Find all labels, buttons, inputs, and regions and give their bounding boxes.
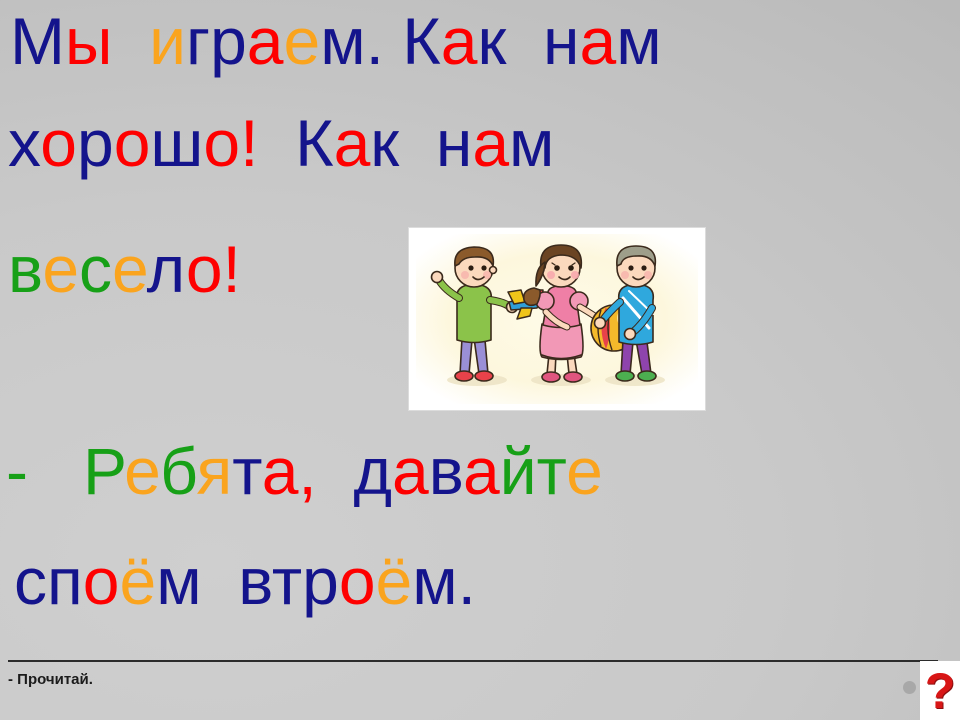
line-1-seg-11: а bbox=[441, 4, 478, 78]
line-2-seg-8: К bbox=[295, 106, 333, 180]
line-1-seg-4: г bbox=[186, 4, 210, 78]
line-2-seg-0: х bbox=[8, 106, 40, 180]
line-5-seg-2: о bbox=[83, 544, 120, 618]
line-2-seg-3: о bbox=[114, 106, 151, 180]
line-4-seg-3: е bbox=[124, 434, 160, 508]
line-4-seg-15: т bbox=[537, 434, 567, 508]
line-5-seg-6: в bbox=[238, 544, 272, 618]
line-1-seg-8: м. bbox=[320, 4, 384, 78]
slide-canvas: Мы играем. Как нам хорошо! Как нам весел… bbox=[0, 0, 960, 720]
line-2-seg-2: р bbox=[77, 106, 114, 180]
question-mark-icon: ? bbox=[925, 666, 956, 716]
line-1-seg-7: е bbox=[284, 4, 321, 78]
line-5-seg-5 bbox=[202, 544, 239, 618]
poem-line-4: - Ребята, давайте bbox=[6, 438, 603, 504]
line-5-seg-0: с bbox=[14, 544, 47, 618]
children-playing-illustration bbox=[409, 228, 705, 410]
line-3-seg-0: в bbox=[8, 232, 42, 306]
line-1-seg-15: а bbox=[579, 4, 616, 78]
line-4-seg-4: б bbox=[160, 434, 196, 508]
line-2-seg-12: н bbox=[436, 106, 472, 180]
footer-divider bbox=[8, 660, 938, 662]
line-5-seg-11: м. bbox=[412, 544, 476, 618]
slide-progress-dot[interactable] bbox=[903, 681, 916, 694]
line-4-seg-8: , bbox=[298, 434, 316, 508]
footer-instruction: - Прочитай. bbox=[8, 671, 93, 688]
line-3-seg-5: о bbox=[186, 232, 223, 306]
line-4-seg-10: д bbox=[353, 434, 392, 508]
poem-line-5: споём втроём. bbox=[14, 548, 476, 614]
line-2-seg-4: ш bbox=[150, 106, 203, 180]
line-2-seg-10: к bbox=[370, 106, 399, 180]
line-5-seg-10: ё bbox=[376, 544, 413, 618]
line-4-seg-5: я bbox=[196, 434, 232, 508]
line-5-seg-1: п bbox=[47, 544, 83, 618]
line-5-seg-3: ё bbox=[119, 544, 156, 618]
line-4-seg-9 bbox=[317, 434, 354, 508]
line-4-seg-6: т bbox=[232, 434, 262, 508]
line-2-seg-11 bbox=[399, 106, 436, 180]
line-2-seg-1: о bbox=[40, 106, 77, 180]
line-1-seg-12: к bbox=[477, 4, 506, 78]
line-3-seg-6: ! bbox=[223, 232, 241, 306]
line-2-seg-13: а bbox=[472, 106, 509, 180]
line-1-seg-0: М bbox=[10, 4, 65, 78]
line-3-seg-2: с bbox=[79, 232, 112, 306]
line-2-seg-6: ! bbox=[240, 106, 258, 180]
line-1-seg-13 bbox=[506, 4, 543, 78]
line-1-seg-5: р bbox=[210, 4, 247, 78]
help-question-button[interactable]: ? bbox=[920, 661, 960, 720]
poem-line-1: Мы играем. Как нам bbox=[10, 8, 662, 74]
line-5-seg-7: т bbox=[272, 544, 302, 618]
line-2-seg-14: м bbox=[509, 106, 554, 180]
line-5-seg-9: о bbox=[339, 544, 376, 618]
line-2-seg-9: а bbox=[334, 106, 371, 180]
line-2-seg-7 bbox=[258, 106, 295, 180]
line-4-seg-13: а bbox=[463, 434, 500, 508]
line-4-seg-7: а bbox=[262, 434, 299, 508]
line-4-seg-11: а bbox=[392, 434, 429, 508]
line-1-seg-3: и bbox=[149, 4, 186, 78]
line-4-seg-14: й bbox=[500, 434, 537, 508]
line-1-seg-9 bbox=[384, 4, 402, 78]
line-4-seg-2: Р bbox=[83, 434, 124, 508]
line-1-seg-6: а bbox=[247, 4, 284, 78]
line-1-seg-1: ы bbox=[65, 4, 112, 78]
line-2-seg-5: о bbox=[203, 106, 240, 180]
line-1-seg-16: м bbox=[616, 4, 661, 78]
line-5-seg-8: р bbox=[302, 544, 339, 618]
line-1-seg-14: н bbox=[543, 4, 579, 78]
poem-line-2: хорошо! Как нам bbox=[8, 110, 554, 176]
line-1-seg-2 bbox=[112, 4, 149, 78]
line-3-seg-3: е bbox=[112, 232, 147, 306]
line-4-seg-12: в bbox=[429, 434, 463, 508]
poem-line-3: весело! bbox=[8, 236, 241, 302]
line-1-seg-10: К bbox=[402, 4, 440, 78]
line-4-seg-16: е bbox=[566, 434, 603, 508]
line-4-seg-1 bbox=[28, 434, 83, 508]
line-5-seg-4: м bbox=[156, 544, 201, 618]
line-3-seg-4: л bbox=[147, 232, 186, 306]
line-3-seg-1: е bbox=[42, 232, 79, 306]
line-4-seg-0: - bbox=[6, 434, 28, 508]
